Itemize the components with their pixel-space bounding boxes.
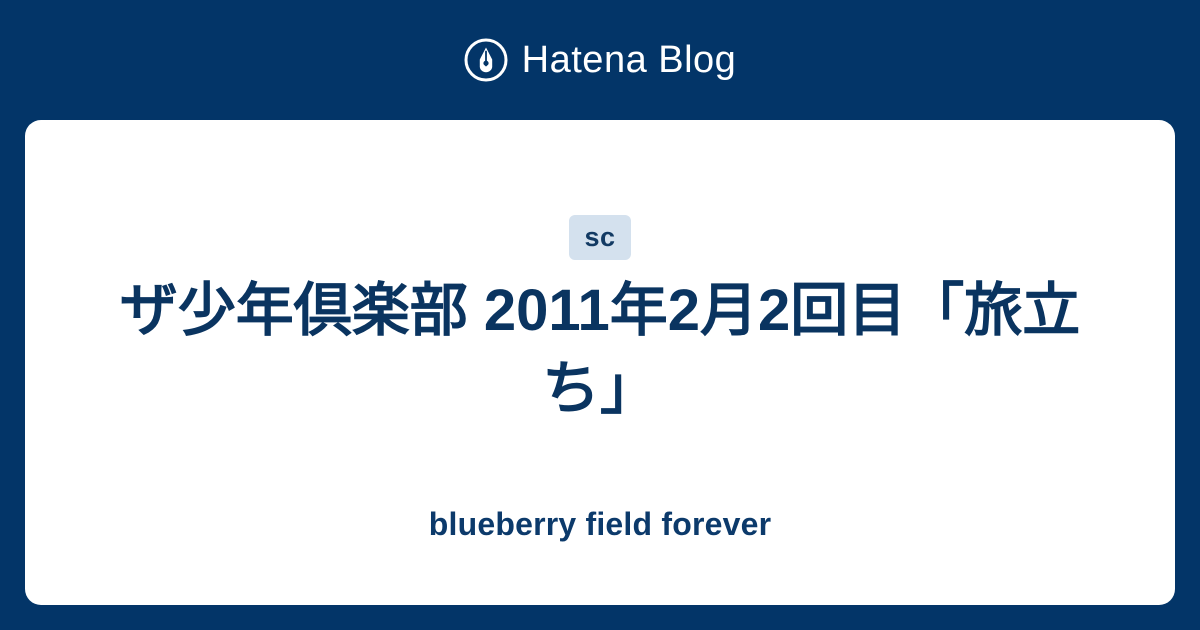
badge-row: sc [25,215,1175,260]
entry-title: ザ少年倶楽部 2011年2月2回目「旅立ち」 [25,272,1175,428]
entry-card: sc ザ少年倶楽部 2011年2月2回目「旅立ち」 blueberry fiel… [25,120,1175,605]
brand-header: Hatena Blog [0,0,1200,120]
ogp-card-root: Hatena Blog sc ザ少年倶楽部 2011年2月2回目「旅立ち」 bl… [0,0,1200,630]
category-badge[interactable]: sc [569,215,631,260]
blog-name[interactable]: blueberry field forever [25,505,1175,543]
brand-name: Hatena Blog [522,41,737,79]
hatena-blog-pen-nib-icon [464,38,508,82]
